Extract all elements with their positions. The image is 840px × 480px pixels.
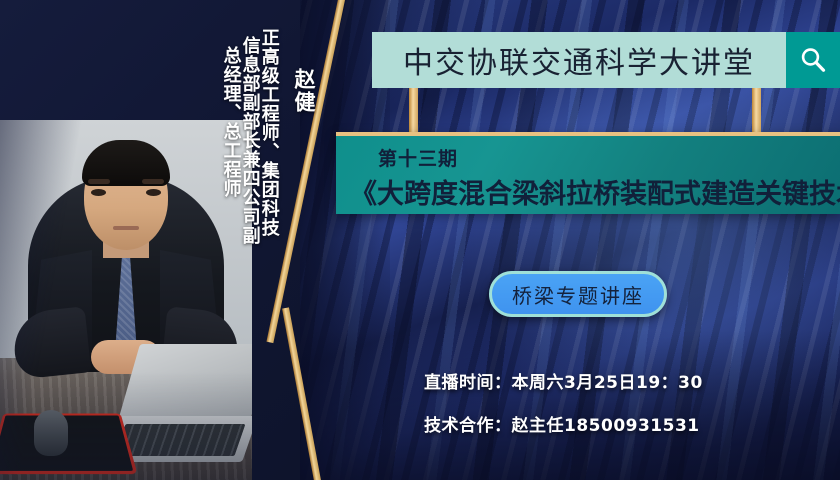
photo-hair xyxy=(82,140,170,186)
webinar-poster: 赵健 正高级工程师、集团科技 信息部副部长兼四公司副 总经理、总工程师 中交协联… xyxy=(0,0,840,480)
topic-title: 《大跨度混合梁斜拉桥装配式建造关键技术》 xyxy=(350,172,840,211)
search-icon xyxy=(798,45,828,75)
header-banner: 中交协联交通科学大讲堂 xyxy=(372,32,840,88)
speaker-credential-line-1: 正高级工程师、集团科技 xyxy=(260,28,279,237)
speaker-credentials: 赵健 正高级工程师、集团科技 信息部副部长兼四公司副 总经理、总工程师 xyxy=(185,0,315,480)
banner-plate: 中交协联交通科学大讲堂 xyxy=(372,32,786,88)
contact-info: 技术合作：赵主任18500931531 xyxy=(424,411,700,436)
speaker-credential-line-3: 总经理、总工程师 xyxy=(222,46,241,198)
topic-pill-label: 桥梁专题讲座 xyxy=(512,280,644,309)
photo-shirt xyxy=(102,254,150,372)
mousepad xyxy=(0,413,137,474)
speaker-name: 赵健 xyxy=(293,68,315,114)
photo-head xyxy=(84,146,168,250)
photo-eye-right xyxy=(146,189,161,196)
episode-label: 第十三期 xyxy=(378,144,458,171)
photo-neck xyxy=(103,218,149,258)
photo-lapel-left xyxy=(30,250,92,372)
photo-hands xyxy=(91,340,161,374)
photo-eye-left xyxy=(91,189,106,196)
banner-title: 中交协联交通科学大讲堂 xyxy=(403,38,755,82)
computer-mouse xyxy=(34,410,68,456)
title-band: 第十三期 《大跨度混合梁斜拉桥装配式建造关键技术》 xyxy=(336,132,840,214)
photo-arm-left xyxy=(11,306,91,379)
photo-eyebrow-left xyxy=(88,179,110,184)
speaker-credential-line-2: 信息部副部长兼四公司副 xyxy=(241,36,260,245)
photo-eyebrow-right xyxy=(142,179,164,184)
photo-mouth xyxy=(113,226,139,230)
topic-pill-button[interactable]: 桥梁专题讲座 xyxy=(489,271,667,317)
broadcast-time: 直播时间：本周六3月25日19：30 xyxy=(424,368,703,393)
search-button[interactable] xyxy=(786,32,840,88)
